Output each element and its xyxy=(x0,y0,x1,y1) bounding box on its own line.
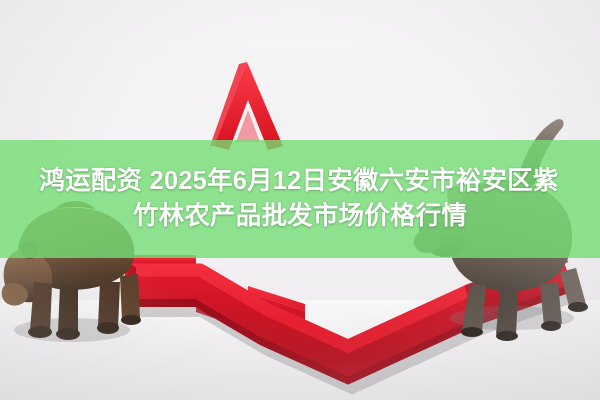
caption-line-1: 鸿运配资 2025年6月12日安徽六安市裕安区紫 xyxy=(39,164,558,199)
caption-band: 鸿运配资 2025年6月12日安徽六安市裕安区紫 竹林农产品批发市场价格行情 xyxy=(0,140,600,258)
caption-line-2: 竹林农产品批发市场价格行情 xyxy=(133,199,467,234)
banner-image: 鸿运配资 2025年6月12日安徽六安市裕安区紫 竹林农产品批发市场价格行情 xyxy=(0,0,600,400)
